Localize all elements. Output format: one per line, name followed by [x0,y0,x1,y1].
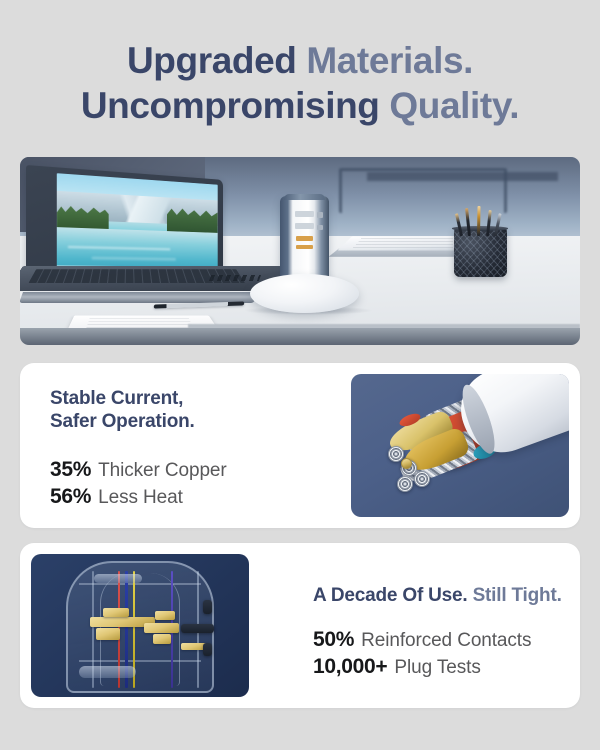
brass-contact [96,628,120,639]
internal-cylinder [94,574,142,583]
outlet-socket-side [317,212,323,217]
infographic-page: Upgraded Materials. Uncompromising Quali… [0,0,600,750]
stat-row: 56% Less Heat [50,485,227,512]
stat-row: 50% Reinforced Contacts [313,628,531,655]
stat-value: 35% [50,458,91,482]
pencil-cup [454,228,507,277]
card-1-title-line-1: Stable Current, [50,388,183,409]
card-2-title-dark: A Decade Of Use. [313,585,473,606]
cable-cutaway-image [351,374,569,517]
card-2-stats: 50% Reinforced Contacts 10,000+ Plug Tes… [313,628,531,682]
laptop-screen [26,165,223,282]
laptop-ports [209,275,261,281]
card-2-title: A Decade Of Use. Still Tight. [313,584,562,607]
power-strip-base [250,274,359,313]
background-shelf-frame [339,168,507,213]
internal-frame-line [79,660,201,662]
outlet-socket [295,211,314,217]
wire-strand-end [397,476,413,492]
hero-product-photo [20,157,580,345]
feature-card-stable-current: Stable Current, Safer Operation. 35% Thi… [20,363,580,528]
desk-front-edge [20,328,580,345]
stat-row: 10,000+ Plug Tests [313,655,531,682]
stat-value: 56% [50,485,91,509]
card-1-stats: 35% Thicker Copper 56% Less Heat [50,458,227,512]
internal-component [203,643,212,656]
stat-value: 50% [313,628,354,652]
pencil [477,206,481,236]
headline-line-2-dark: Uncompromising [81,85,390,126]
card-1-title-line-2: Safer Operation. [50,411,195,432]
stat-row: 35% Thicker Copper [50,458,227,485]
card-2-title-light: Still Tight. [473,585,562,606]
laptop-wallpaper [57,173,218,274]
usb-port [296,245,313,249]
brass-contact [155,611,175,620]
internal-frame-line [79,583,201,585]
headline-line-1: Upgraded Materials. [0,38,600,83]
outlet-socket [295,223,314,229]
power-strip-tower [280,196,328,284]
brass-contact [153,634,170,644]
xray-internals-image [31,554,249,697]
tower-top-cap [284,194,324,200]
brass-contact [144,623,179,633]
background-papers [337,237,469,251]
internal-component [203,600,212,614]
internal-cylinder [79,666,136,679]
card-1-title: Stable Current, Safer Operation. [50,387,195,433]
stat-value: 10,000+ [313,655,387,679]
feature-card-decade-of-use: A Decade Of Use. Still Tight. 50% Reinfo… [20,543,580,708]
background-paper-lines [353,239,453,248]
stat-label: Reinforced Contacts [361,630,531,652]
headline-line-1-light: Materials. [306,40,473,81]
stat-label: Plug Tests [394,657,480,679]
wire-strand-end [414,471,430,487]
headline-line-2: Uncompromising Quality. [0,83,600,128]
stat-label: Less Heat [98,487,183,509]
page-title: Upgraded Materials. Uncompromising Quali… [0,38,600,128]
internal-component [181,624,214,633]
outlet-socket-side [317,225,323,230]
headline-line-2-light: Quality. [389,85,519,126]
brass-contact [103,608,129,617]
stat-label: Thicker Copper [98,460,226,482]
usb-port [296,236,313,240]
headline-line-1-dark: Upgraded [127,40,306,81]
pencil-cup-mesh [454,228,507,277]
